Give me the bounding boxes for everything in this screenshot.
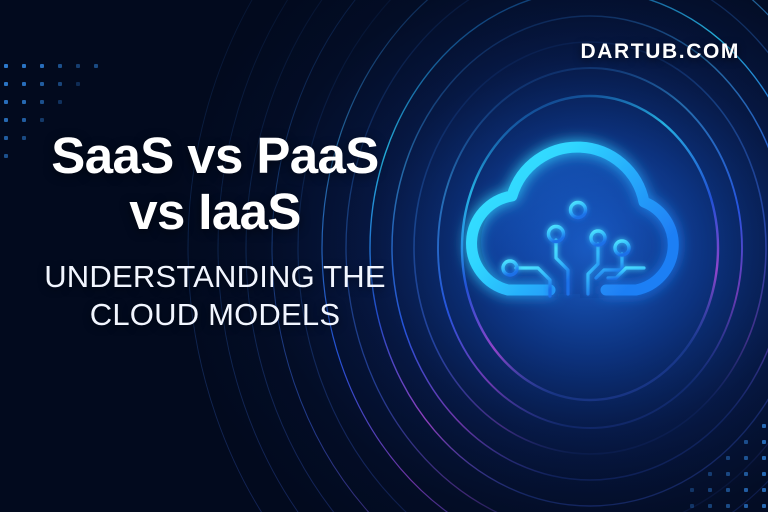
page-title: SaaS vs PaaS vs IaaS (0, 128, 430, 240)
subtitle-line-2: CLOUD MODELS (0, 296, 430, 334)
grid-dot (76, 64, 80, 68)
grid-dot (4, 100, 8, 104)
grid-dot (22, 100, 26, 104)
grid-dot (726, 472, 730, 476)
grid-dot (744, 488, 748, 492)
grid-dot (762, 488, 766, 492)
grid-dot (58, 100, 62, 104)
grid-dot (4, 82, 8, 86)
grid-dot (40, 100, 44, 104)
grid-dot (58, 82, 62, 86)
grid-dot (40, 118, 44, 122)
grid-dot (4, 118, 8, 122)
grid-dot (744, 504, 748, 508)
brand-watermark: DARTUB.COM (581, 40, 740, 64)
grid-dot (744, 440, 748, 444)
grid-dot (58, 64, 62, 68)
grid-dot (708, 472, 712, 476)
grid-dot (726, 504, 730, 508)
title-line-1: SaaS vs PaaS (51, 127, 378, 184)
grid-dot (40, 64, 44, 68)
grid-dot (762, 456, 766, 460)
grid-dot (726, 488, 730, 492)
dot-grid-top-left (4, 28, 114, 138)
grid-dot (94, 64, 98, 68)
grid-dot (708, 488, 712, 492)
grid-dot (744, 456, 748, 460)
grid-dot (726, 456, 730, 460)
cloud-circuit-icon (438, 118, 738, 408)
title-line-2: vs IaaS (0, 184, 430, 240)
grid-dot (22, 118, 26, 122)
page-subtitle: UNDERSTANDING THE CLOUD MODELS (0, 258, 430, 334)
grid-dot (22, 82, 26, 86)
grid-dot (40, 82, 44, 86)
grid-dot (708, 504, 712, 508)
poster-canvas: DARTUB.COM (0, 0, 768, 512)
dot-grid-bottom-right (690, 424, 768, 512)
grid-dot (762, 472, 766, 476)
grid-dot (690, 504, 694, 508)
text-block: SaaS vs PaaS vs IaaS UNDERSTANDING THE C… (0, 128, 430, 334)
grid-dot (22, 64, 26, 68)
subtitle-line-1: UNDERSTANDING THE (44, 259, 386, 294)
grid-dot (762, 424, 766, 428)
grid-dot (762, 504, 766, 508)
grid-dot (76, 82, 80, 86)
grid-dot (4, 64, 8, 68)
grid-dot (690, 488, 694, 492)
grid-dot (744, 472, 748, 476)
grid-dot (762, 440, 766, 444)
